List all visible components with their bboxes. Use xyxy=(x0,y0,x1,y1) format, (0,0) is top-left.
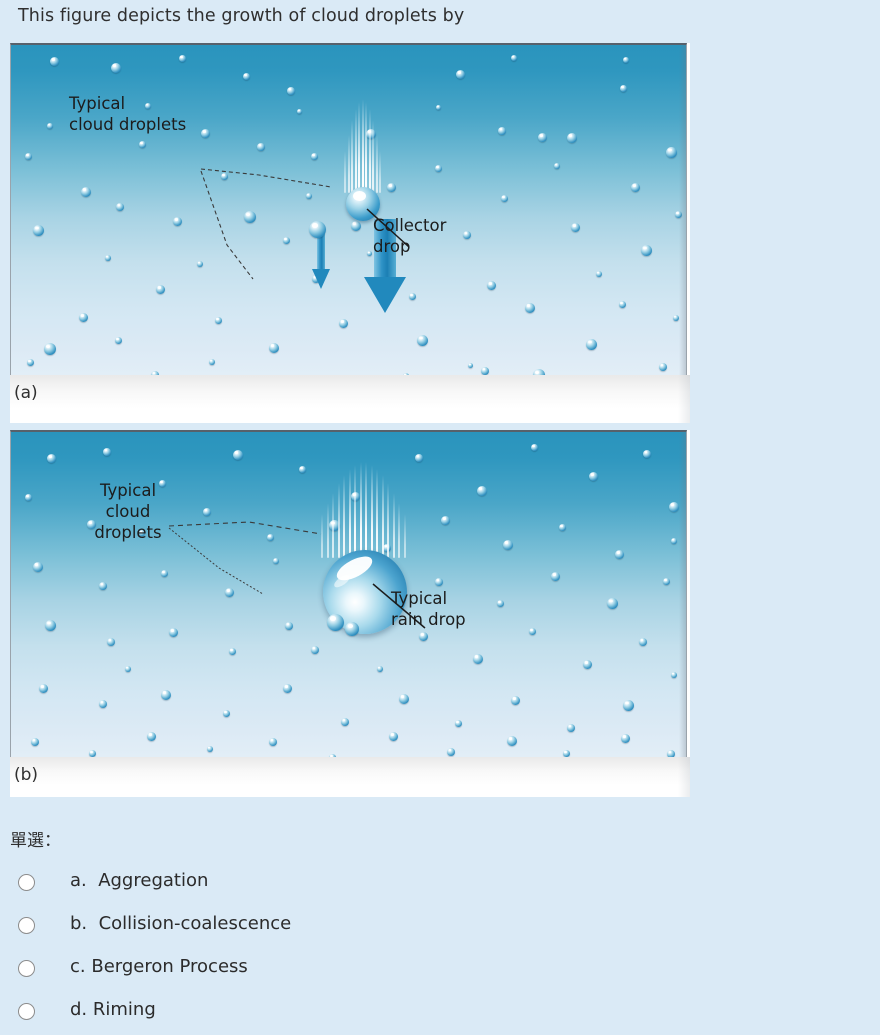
cloud-droplet xyxy=(641,245,652,256)
annotation-typical-cloud-droplets: Typical cloud droplets xyxy=(69,93,186,135)
cloud-droplet xyxy=(297,109,302,114)
cloud-droplet xyxy=(81,187,91,197)
cloud-droplet xyxy=(273,558,279,564)
cloud-droplet xyxy=(99,700,107,708)
cloud-droplet xyxy=(107,638,115,646)
cloud-droplet xyxy=(631,183,640,192)
answers-heading: 單選： xyxy=(10,826,61,851)
cloud-droplet xyxy=(233,450,243,460)
cloud-droplet xyxy=(27,359,34,366)
radio-button-d[interactable] xyxy=(18,1003,35,1020)
cloud-droplet xyxy=(244,211,256,223)
cloud-droplet xyxy=(79,313,88,322)
cloud-droplet xyxy=(673,315,679,321)
cloud-droplet xyxy=(417,335,428,346)
cloud-droplet xyxy=(497,600,504,607)
cloud-droplet xyxy=(285,622,293,630)
cloud-droplet xyxy=(468,363,473,368)
question-prompt: This figure depicts the growth of cloud … xyxy=(18,4,464,28)
cloud-droplet xyxy=(501,195,508,202)
cloud-droplet xyxy=(586,339,597,350)
cloud-droplet xyxy=(99,582,107,590)
cloud-droplet xyxy=(283,684,292,693)
cloud-droplet xyxy=(621,734,630,743)
motion-streaks-icon xyxy=(321,462,407,558)
cloud-droplet xyxy=(659,363,667,371)
cloud-droplet xyxy=(639,638,647,646)
cloud-droplet xyxy=(197,261,203,267)
cloud-droplet xyxy=(399,694,409,704)
cloud-droplet xyxy=(125,666,131,672)
cloud-droplet xyxy=(463,231,471,239)
cloud-droplet xyxy=(620,85,627,92)
cloud-droplet xyxy=(139,141,146,148)
cloud-droplet xyxy=(571,223,580,232)
cloud-droplet xyxy=(257,143,265,151)
cloud-droplet xyxy=(209,359,215,365)
cloud-droplet xyxy=(311,646,319,654)
cloud-droplet xyxy=(377,666,383,672)
cloud-droplet xyxy=(223,710,230,717)
cloud-droplet xyxy=(666,147,677,158)
cloud-droplet xyxy=(525,303,535,313)
cloud-droplet xyxy=(667,750,675,757)
falling-cloud-droplet xyxy=(309,221,326,238)
cloud-droplet xyxy=(229,648,236,655)
cloud-droplet xyxy=(327,614,344,631)
cloud-droplet xyxy=(675,211,682,218)
cloud-droplet xyxy=(583,660,592,669)
cloud-droplet xyxy=(503,540,513,550)
cloud-droplet xyxy=(25,494,32,501)
cloud-droplet xyxy=(306,193,312,199)
answer-label-d: d. Riming xyxy=(70,999,156,1020)
radio-button-a[interactable] xyxy=(18,874,35,891)
cloud-droplet xyxy=(563,750,570,757)
cloud-droplet xyxy=(39,684,48,693)
figure-panel-b: Typical cloud droplets Typical rain drop… xyxy=(10,430,690,797)
cloud-droplet xyxy=(33,562,43,572)
cloud-droplet xyxy=(456,70,465,79)
cloud-droplet xyxy=(269,738,277,746)
cloud-droplet xyxy=(507,736,517,746)
answer-label-a: a. Aggregation xyxy=(70,870,208,891)
cloud-droplet xyxy=(481,367,489,375)
figure: Typical cloud droplets Collector drop (a… xyxy=(10,43,690,797)
cloud-droplet xyxy=(529,628,536,635)
cloud-droplet xyxy=(511,55,517,61)
cloud-droplet xyxy=(207,746,213,752)
cloud-droplet xyxy=(203,508,211,516)
cloud-droplet xyxy=(267,534,274,541)
cloud-droplet xyxy=(435,578,443,586)
cloud-droplet xyxy=(387,183,396,192)
cloud-droplet xyxy=(623,700,634,711)
cloud-droplet xyxy=(663,578,670,585)
cloud-droplet xyxy=(607,598,618,609)
cloud-droplet xyxy=(215,317,222,324)
cloud-droplet xyxy=(225,588,234,597)
cloud-droplet xyxy=(409,293,416,300)
radio-button-c[interactable] xyxy=(18,960,35,977)
cloud-droplet xyxy=(551,572,560,581)
cloud-droplet xyxy=(47,454,56,463)
cloud-droplet xyxy=(345,622,359,636)
cloud-droplet xyxy=(455,720,462,727)
panel-a-sky: Typical cloud droplets Collector drop xyxy=(10,43,687,375)
cloud-droplet xyxy=(436,105,441,110)
cloud-droplet xyxy=(419,632,428,641)
answer-option-c[interactable]: c. Bergeron Process xyxy=(0,950,880,992)
cloud-droplet xyxy=(105,255,111,261)
motion-streaks-icon xyxy=(344,97,382,193)
cloud-droplet xyxy=(44,343,56,355)
cloud-droplet xyxy=(329,520,340,531)
cloud-droplet xyxy=(221,173,228,180)
panel-a-caption-strip: (a) xyxy=(10,375,690,423)
panel-b-caption-strip: (b) xyxy=(10,757,690,797)
cloud-droplet xyxy=(447,748,455,756)
cloud-droplet xyxy=(339,319,348,328)
cloud-droplet xyxy=(441,516,450,525)
cloud-droplet xyxy=(559,524,566,531)
annotation-typical-cloud-droplets: Typical cloud droplets xyxy=(73,480,183,543)
cloud-droplet xyxy=(33,225,44,236)
cloud-droplet xyxy=(311,153,318,160)
cloud-droplet xyxy=(201,129,210,138)
cloud-droplet xyxy=(156,285,165,294)
cloud-droplet xyxy=(283,237,290,244)
cloud-droplet xyxy=(415,454,423,462)
cloud-droplet xyxy=(351,221,361,231)
cloud-droplet xyxy=(299,466,306,473)
cloud-droplet xyxy=(554,163,560,169)
cloud-droplet xyxy=(487,281,496,290)
cloud-droplet xyxy=(287,87,295,95)
panel-a-label: (a) xyxy=(14,383,38,403)
cloud-droplet xyxy=(567,724,575,732)
cloud-droplet xyxy=(111,63,121,73)
cloud-droplet xyxy=(31,738,39,746)
cloud-droplet xyxy=(103,448,111,456)
cloud-droplet xyxy=(147,732,156,741)
cloud-droplet xyxy=(596,271,602,277)
answer-option-a[interactable]: a. Aggregation xyxy=(0,864,880,906)
panel-b-label: (b) xyxy=(14,765,38,785)
cloud-droplet xyxy=(589,472,598,481)
cloud-droplet xyxy=(389,732,398,741)
cloud-droplet xyxy=(89,750,96,757)
cloud-droplet xyxy=(161,690,171,700)
cloud-droplet xyxy=(366,129,376,139)
cloud-droplet xyxy=(477,486,487,496)
figure-panel-a: Typical cloud droplets Collector drop (a… xyxy=(10,43,690,423)
cloud-droplet xyxy=(25,153,32,160)
cloud-droplet xyxy=(47,123,53,129)
cloud-droplet xyxy=(115,337,122,344)
cloud-droplet xyxy=(179,55,186,62)
answer-label-b: b. Collision-coalescence xyxy=(70,913,291,934)
cloud-droplet xyxy=(45,620,56,631)
cloud-droplet xyxy=(435,165,442,172)
cloud-droplet xyxy=(169,628,178,637)
answer-label-c: c. Bergeron Process xyxy=(70,956,248,977)
cloud-droplet xyxy=(538,133,547,142)
answer-option-d[interactable]: d. Riming xyxy=(0,993,880,1035)
cloud-droplet xyxy=(473,654,483,664)
cloud-droplet xyxy=(671,672,677,678)
radio-button-b[interactable] xyxy=(18,917,35,934)
cloud-droplet xyxy=(383,544,391,552)
cloud-droplet xyxy=(531,444,538,451)
cloud-droplet xyxy=(243,73,250,80)
cloud-droplet xyxy=(615,550,624,559)
cloud-droplet xyxy=(643,450,651,458)
panel-gap xyxy=(10,423,690,430)
annotation-collector-drop: Collector drop xyxy=(373,215,446,257)
annotation-typical-rain-drop: Typical rain drop xyxy=(391,588,466,630)
cloud-droplet xyxy=(567,133,577,143)
cloud-droplet xyxy=(269,343,279,353)
cloud-droplet xyxy=(116,203,124,211)
cloud-droplet xyxy=(351,492,360,501)
panel-b-sky: Typical cloud droplets Typical rain drop xyxy=(10,430,687,757)
cloud-droplet xyxy=(161,570,168,577)
cloud-droplet xyxy=(669,502,679,512)
cloud-droplet xyxy=(498,127,506,135)
answer-option-b[interactable]: b. Collision-coalescence xyxy=(0,907,880,949)
cloud-droplet xyxy=(50,57,59,66)
cloud-droplet xyxy=(671,538,677,544)
cloud-droplet xyxy=(511,696,520,705)
cloud-droplet xyxy=(173,217,182,226)
cloud-droplet xyxy=(619,301,626,308)
small-fall-arrow-icon xyxy=(311,231,331,293)
cloud-droplet xyxy=(341,718,349,726)
cloud-droplet xyxy=(623,57,629,63)
